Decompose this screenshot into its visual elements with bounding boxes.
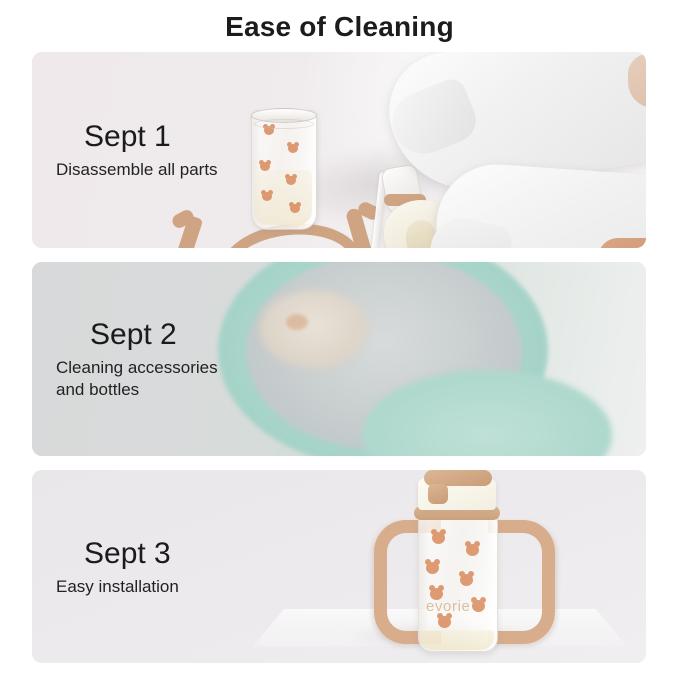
handle-icon [488,520,555,644]
lid-button-icon [428,484,448,504]
bear-pattern-icon [286,314,308,330]
bear-pattern-icon [432,532,445,544]
background-object [260,290,368,368]
bear-pattern-icon [438,616,451,628]
bear-pattern-icon [426,562,439,574]
bottle-liquid [420,630,494,650]
step-3-illustration: evorie [32,470,646,663]
bear-pattern-icon [260,162,270,171]
brand-watermark: evorie [426,598,470,615]
bear-pattern-icon [466,544,479,556]
bear-pattern-icon [472,600,485,612]
step-panel-1: Sept 1 Disassemble all parts [32,52,646,248]
step-1-illustration [32,52,646,248]
bear-pattern-icon [288,144,298,153]
bear-pattern-icon [286,176,296,185]
bottle-thread [254,119,314,129]
bear-pattern-icon [290,204,300,213]
page-title: Ease of Cleaning [0,8,679,46]
step-2-illustration [32,262,646,456]
step-panel-2: Sept 2 Cleaning accessories and bottles [32,262,646,456]
bear-pattern-icon [262,192,272,201]
step-panel-3: evorie Sept 3 Easy installation [32,470,646,663]
bear-pattern-icon [460,574,473,586]
